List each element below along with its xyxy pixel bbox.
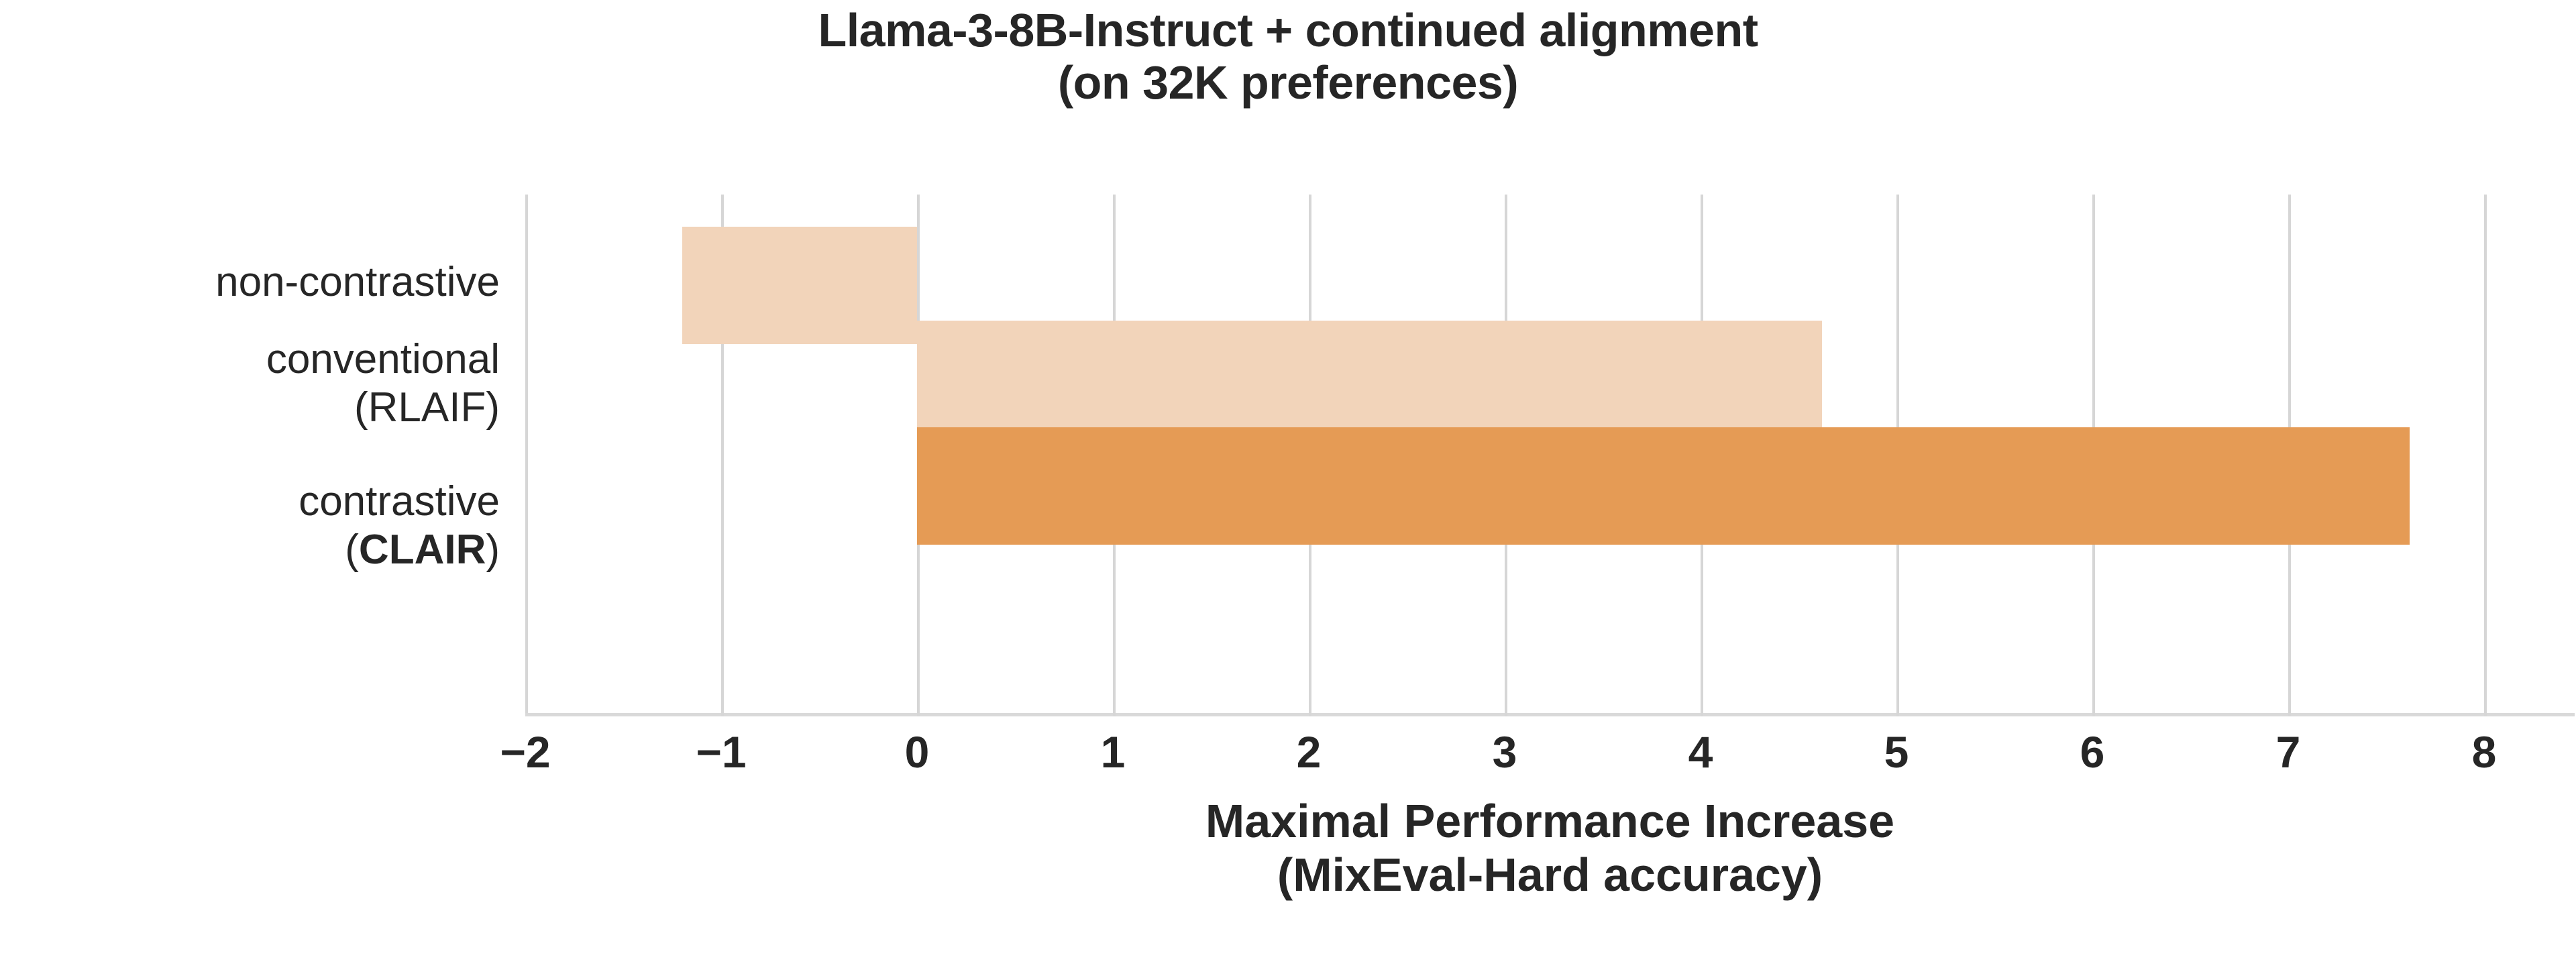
bar-contrastive-clair [917, 427, 2410, 545]
y-category-sub-bold: CLAIR [359, 527, 486, 573]
paren-close: ) [486, 384, 500, 431]
y-category-label-non-contrastive: non-contrastive [0, 258, 500, 307]
chart-title-line-1: Llama-3-8B-Instruct + continued alignmen… [0, 4, 2576, 56]
plot-area [525, 195, 2575, 716]
axis-spine-bottom [525, 713, 2575, 716]
y-category-label-contrastive-clair: contrastive (CLAIR) [0, 478, 500, 574]
x-tick-label-8: 8 [2417, 730, 2551, 774]
chart-title-line-2: (on 32K preferences) [0, 56, 2576, 109]
y-category-line: (CLAIR) [0, 526, 500, 574]
x-axis-title-line-2: (MixEval-Hard accuracy) [525, 849, 2575, 902]
paren-open: ( [345, 527, 359, 573]
x-tick-label-0: 0 [850, 730, 984, 774]
bar-non-contrastive [682, 227, 917, 344]
x-axis-title-line-1: Maximal Performance Increase [525, 795, 2575, 849]
y-category-line: non-contrastive [0, 258, 500, 307]
y-category-line: (RLAIF) [0, 384, 500, 432]
x-tick-label-7: 7 [2221, 730, 2355, 774]
y-category-label-conventional-rlaif: conventional (RLAIF) [0, 335, 500, 432]
y-category-line: conventional [0, 335, 500, 384]
x-tick-label-minus-1: −1 [654, 730, 788, 774]
x-tick-label-4: 4 [1633, 730, 1768, 774]
y-category-sub: RLAIF [368, 384, 486, 431]
x-tick-label-minus-2: −2 [458, 730, 592, 774]
x-tick-label-1: 1 [1046, 730, 1180, 774]
paren-close: ) [486, 527, 500, 573]
x-axis-title: Maximal Performance Increase (MixEval-Ha… [525, 795, 2575, 902]
x-tick-label-2: 2 [1242, 730, 1376, 774]
bar-chart-figure: Llama-3-8B-Instruct + continued alignmen… [0, 0, 2576, 976]
x-tick-label-3: 3 [1438, 730, 1572, 774]
x-tick-label-5: 5 [1829, 730, 1964, 774]
paren-open: ( [354, 384, 368, 431]
axis-spine-left [525, 195, 528, 716]
bar-conventional-rlaif [917, 321, 1822, 438]
y-category-line: contrastive [0, 478, 500, 526]
chart-title: Llama-3-8B-Instruct + continued alignmen… [0, 4, 2576, 109]
x-tick-label-6: 6 [2025, 730, 2159, 774]
gridline-8 [2484, 195, 2487, 716]
